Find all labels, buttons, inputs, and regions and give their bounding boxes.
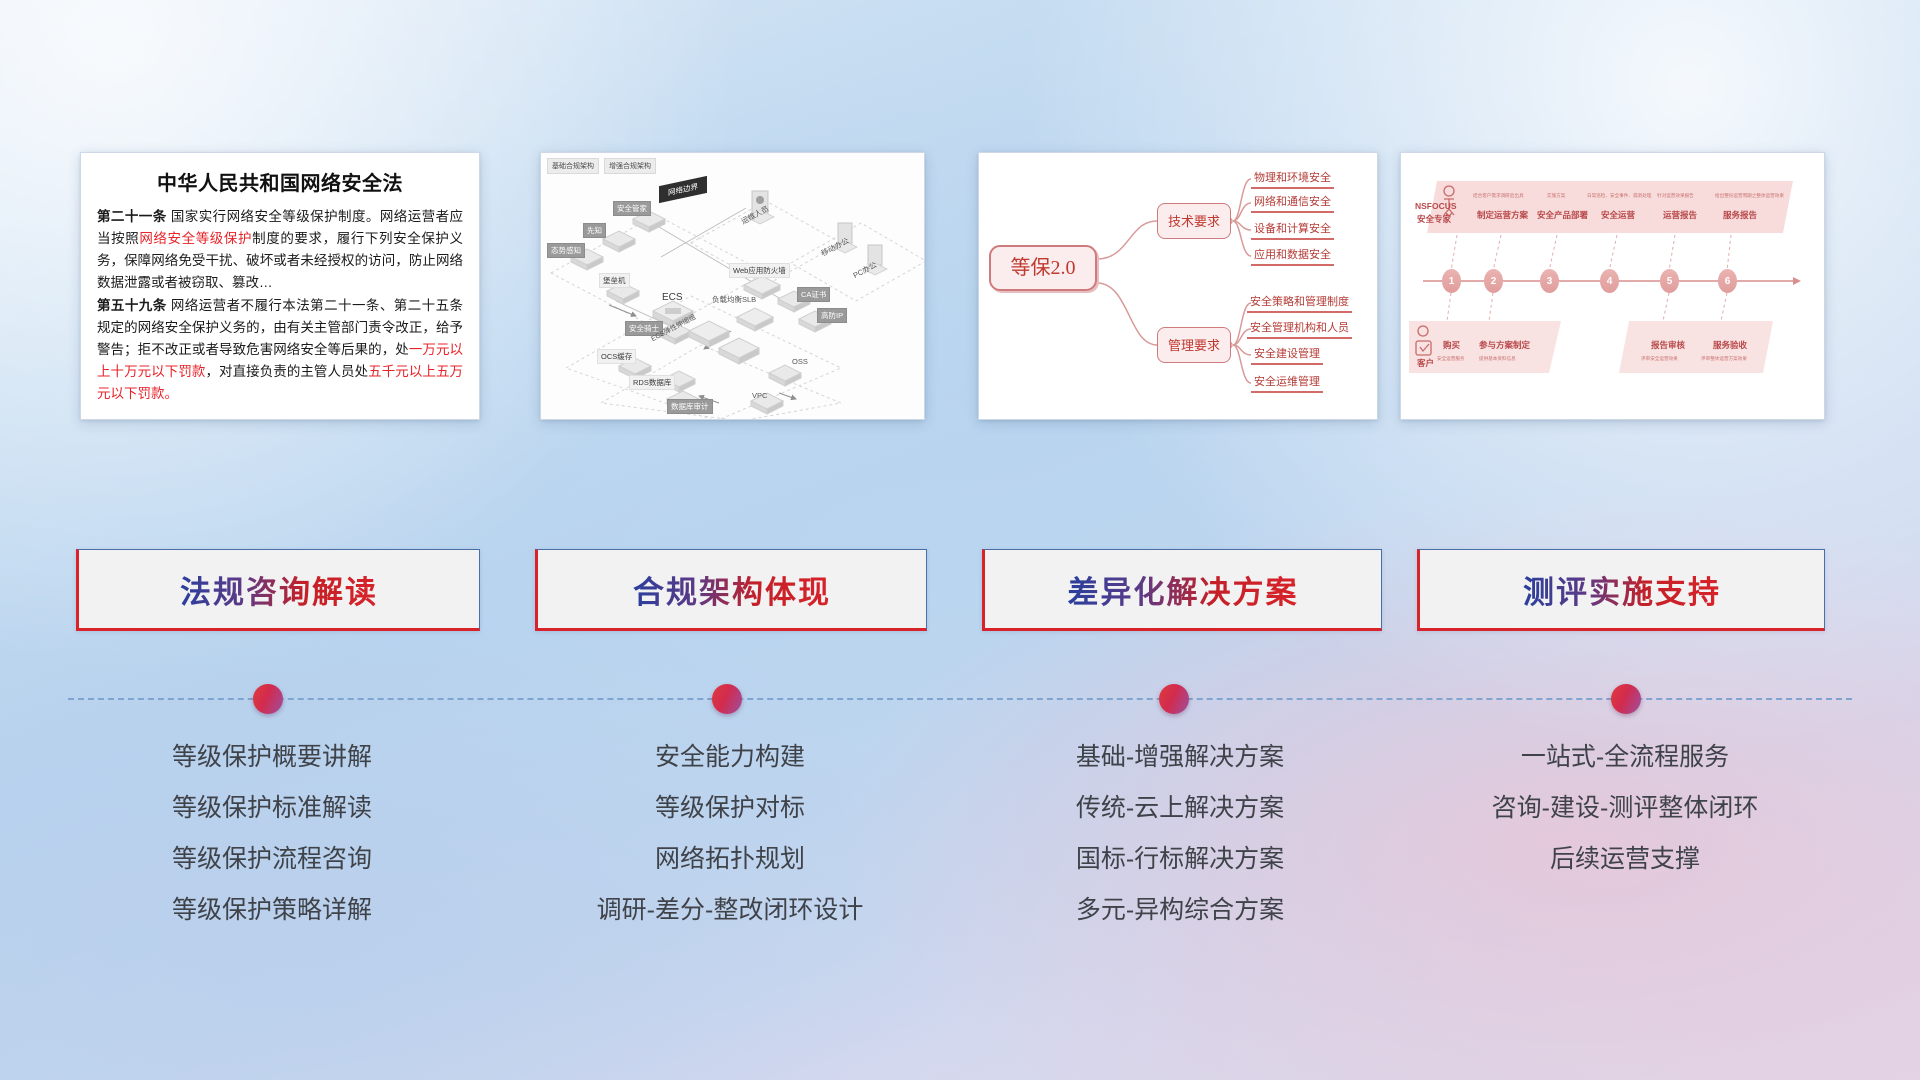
list-item: 一站式-全流程服务	[1405, 745, 1845, 770]
bottom-step-2-main: 参与方案制定	[1479, 339, 1530, 351]
timeline-node-2[interactable]: 2	[1484, 269, 1503, 293]
list-item: 咨询-建设-测评整体闭环	[1405, 796, 1845, 821]
top-step-3-main: 安全运营	[1601, 209, 1635, 221]
list-item: 等级保护标准解读	[72, 796, 472, 821]
mindmap-branch-management[interactable]: 管理要求	[1157, 327, 1231, 363]
article-59-text-2: ，对直接负责的主管人员处	[205, 364, 368, 379]
timeline-node-4[interactable]: 4	[1600, 269, 1619, 293]
card-dengbao-mindmap[interactable]: 等保2.0 技术要求 管理要求 物理和环境安全 网络和通信安全 设备和计算安全 …	[978, 152, 1378, 420]
mindmap-root-node[interactable]: 等保2.0	[989, 245, 1097, 291]
headline-box-assessment-support[interactable]: 测评实施支持	[1417, 549, 1825, 631]
headline-label-1: 法规咨询解读	[180, 567, 378, 612]
card-compliance-architecture[interactable]: 基础合规架构 增强合规架构 网络边界 态势感知 先知 安全管家 堡垒机 安全骑士…	[540, 152, 925, 420]
card-nsfocus-timeline[interactable]: NSFOCUS 安全专家 客户 结合客户需求调研后出具 制定运营方案 实施方案 …	[1400, 152, 1825, 420]
top-step-4-sub: 针对运营效果报告	[1657, 193, 1694, 199]
law-article-59: 第五十九条 网络运营者不履行本法第二十一条、第二十五条规定的网络安全保护义务的，…	[97, 295, 463, 404]
nsfocus-label: NSFOCUS	[1415, 201, 1457, 211]
mindmap-leaf-org-personnel: 安全管理机构和人员	[1247, 319, 1352, 339]
top-step-2-sub: 实施方案	[1547, 193, 1565, 199]
mindmap-branch-technical[interactable]: 技术要求	[1157, 203, 1231, 239]
mindmap-leaf-network-comm: 网络和通信安全	[1251, 193, 1334, 213]
law-article-21: 第二十一条 国家实行网络安全等级保护制度。网络运营者应当按照网络安全等级保护制度…	[97, 206, 463, 293]
axis-marker-3[interactable]	[1159, 684, 1189, 714]
bottom-step-1-sub: 安全运营服务	[1437, 356, 1465, 362]
node-ocs-cache: OCS缓存	[597, 349, 636, 364]
mindmap-leaf-construction-mgmt: 安全建设管理	[1251, 345, 1323, 365]
list-item: 国标-行标解决方案	[975, 847, 1385, 872]
bullet-column-1: 等级保护概要讲解 等级保护标准解读 等级保护流程咨询 等级保护策略详解	[72, 745, 472, 949]
architecture-tabs[interactable]: 基础合规架构 增强合规架构	[547, 158, 656, 174]
timeline-node-6[interactable]: 6	[1718, 269, 1737, 293]
axis-marker-4[interactable]	[1611, 684, 1641, 714]
top-step-3-sub: 日常巡检、安全事件、漏洞处理	[1587, 193, 1651, 199]
service-timeline: NSFOCUS 安全专家 客户 结合客户需求调研后出具 制定运营方案 实施方案 …	[1401, 153, 1824, 419]
bullet-column-4: 一站式-全流程服务 咨询-建设-测评整体闭环 后续运营支撑	[1405, 745, 1845, 898]
axis-marker-2[interactable]	[712, 684, 742, 714]
top-step-1-sub: 结合客户需求调研后出具	[1473, 193, 1524, 199]
article-21-label: 第二十一条	[97, 209, 167, 224]
mindmap-leaf-security-policy: 安全策略和管理制度	[1247, 293, 1352, 313]
node-vpc: VPC	[749, 390, 770, 401]
headline-box-compliance-architecture[interactable]: 合规架构体现	[535, 549, 927, 631]
list-item: 多元-异构综合方案	[975, 898, 1385, 923]
list-item: 后续运营支撑	[1405, 847, 1845, 872]
mindmap-leaf-ops-mgmt: 安全运维管理	[1251, 373, 1323, 393]
top-step-4-main: 运营报告	[1663, 209, 1697, 221]
axis-marker-1[interactable]	[253, 684, 283, 714]
timeline-axis	[68, 698, 1852, 700]
node-xianzhi: 先知	[583, 223, 606, 238]
headline-box-regulation-consulting[interactable]: 法规咨询解读	[76, 549, 480, 631]
top-step-5-main: 服务报告	[1723, 209, 1757, 221]
node-bastion-host: 堡垒机	[599, 273, 630, 288]
mindmap-leaf-app-data: 应用和数据安全	[1251, 246, 1334, 266]
bottom-step-3-main: 报告审核	[1651, 339, 1685, 351]
bottom-step-2-sub: 提供基本资料信息	[1479, 356, 1516, 362]
node-rds-database: RDS数据库	[629, 375, 675, 390]
list-item: 等级保护概要讲解	[72, 745, 472, 770]
headline-box-differentiated-solution[interactable]: 差异化解决方案	[982, 549, 1382, 631]
tab-basic-compliance[interactable]: 基础合规架构	[547, 158, 599, 174]
node-ecs: ECS	[659, 291, 686, 304]
headline-label-4: 测评实施支持	[1523, 567, 1721, 612]
timeline-node-1[interactable]: 1	[1442, 269, 1461, 293]
node-anti-ddos-ip: 高防IP	[817, 308, 847, 323]
article-59-label: 第五十九条	[97, 298, 167, 313]
top-step-2-main: 安全产品部署	[1537, 209, 1588, 221]
top-step-1-main: 制定运营方案	[1477, 209, 1528, 221]
mindmap-leaf-physical-env: 物理和环境安全	[1251, 169, 1334, 189]
node-database-audit: 数据库审计	[667, 399, 713, 414]
node-oss: OSS	[789, 356, 811, 367]
tab-enhanced-compliance[interactable]: 增强合规架构	[604, 158, 656, 174]
card-cybersecurity-law[interactable]: 中华人民共和国网络安全法 第二十一条 国家实行网络安全等级保护制度。网络运营者应…	[80, 152, 480, 420]
cards-row: 中华人民共和国网络安全法 第二十一条 国家实行网络安全等级保护制度。网络运营者应…	[0, 0, 1920, 430]
timeline-node-3[interactable]: 3	[1540, 269, 1559, 293]
node-web-application-firewall: Web应用防火墙	[729, 263, 790, 278]
mindmap: 等保2.0 技术要求 管理要求 物理和环境安全 网络和通信安全 设备和计算安全 …	[979, 153, 1377, 419]
node-slb: 负载均衡SLB	[709, 293, 759, 306]
law-text-block: 中华人民共和国网络安全法 第二十一条 国家实行网络安全等级保护制度。网络运营者应…	[81, 153, 479, 417]
architecture-diagram: 基础合规架构 增强合规架构 网络边界 态势感知 先知 安全管家 堡垒机 安全骑士…	[541, 153, 924, 419]
headline-label-2: 合规架构体现	[633, 567, 831, 612]
bottom-step-4-main: 服务验收	[1713, 339, 1747, 351]
law-title: 中华人民共和国网络安全法	[97, 167, 463, 196]
bottom-step-4-sub: 评审整体运营方案效果	[1701, 356, 1747, 362]
headline-label-3: 差异化解决方案	[1068, 567, 1299, 612]
bottom-step-1-main: 购买	[1443, 339, 1460, 351]
customer-label: 客户	[1417, 357, 1434, 369]
article-21-highlight: 网络安全等级保护	[139, 231, 252, 246]
list-item: 等级保护流程咨询	[72, 847, 472, 872]
top-step-5-sub: 给出整份运营周期之整体运营效果	[1715, 193, 1784, 199]
list-item: 安全能力构建	[500, 745, 960, 770]
mindmap-leaf-device-compute: 设备和计算安全	[1251, 220, 1334, 240]
list-item: 网络拓扑规划	[500, 847, 960, 872]
list-item: 基础-增强解决方案	[975, 745, 1385, 770]
timeline-node-5[interactable]: 5	[1660, 269, 1679, 293]
nsfocus-expert-label: 安全专家	[1417, 213, 1451, 225]
list-item: 传统-云上解决方案	[975, 796, 1385, 821]
list-item: 等级保护策略详解	[72, 898, 472, 923]
node-ca-certificate: CA证书	[797, 287, 830, 302]
list-item: 调研-差分-整改闭环设计	[500, 898, 960, 923]
bullet-column-2: 安全能力构建 等级保护对标 网络拓扑规划 调研-差分-整改闭环设计	[500, 745, 960, 949]
node-security-butler: 安全管家	[613, 201, 651, 216]
node-situational-awareness: 态势感知	[547, 243, 585, 258]
list-item: 等级保护对标	[500, 796, 960, 821]
bullet-column-3: 基础-增强解决方案 传统-云上解决方案 国标-行标解决方案 多元-异构综合方案	[975, 745, 1385, 949]
bottom-step-3-sub: 评审安全运营效果	[1641, 356, 1678, 362]
